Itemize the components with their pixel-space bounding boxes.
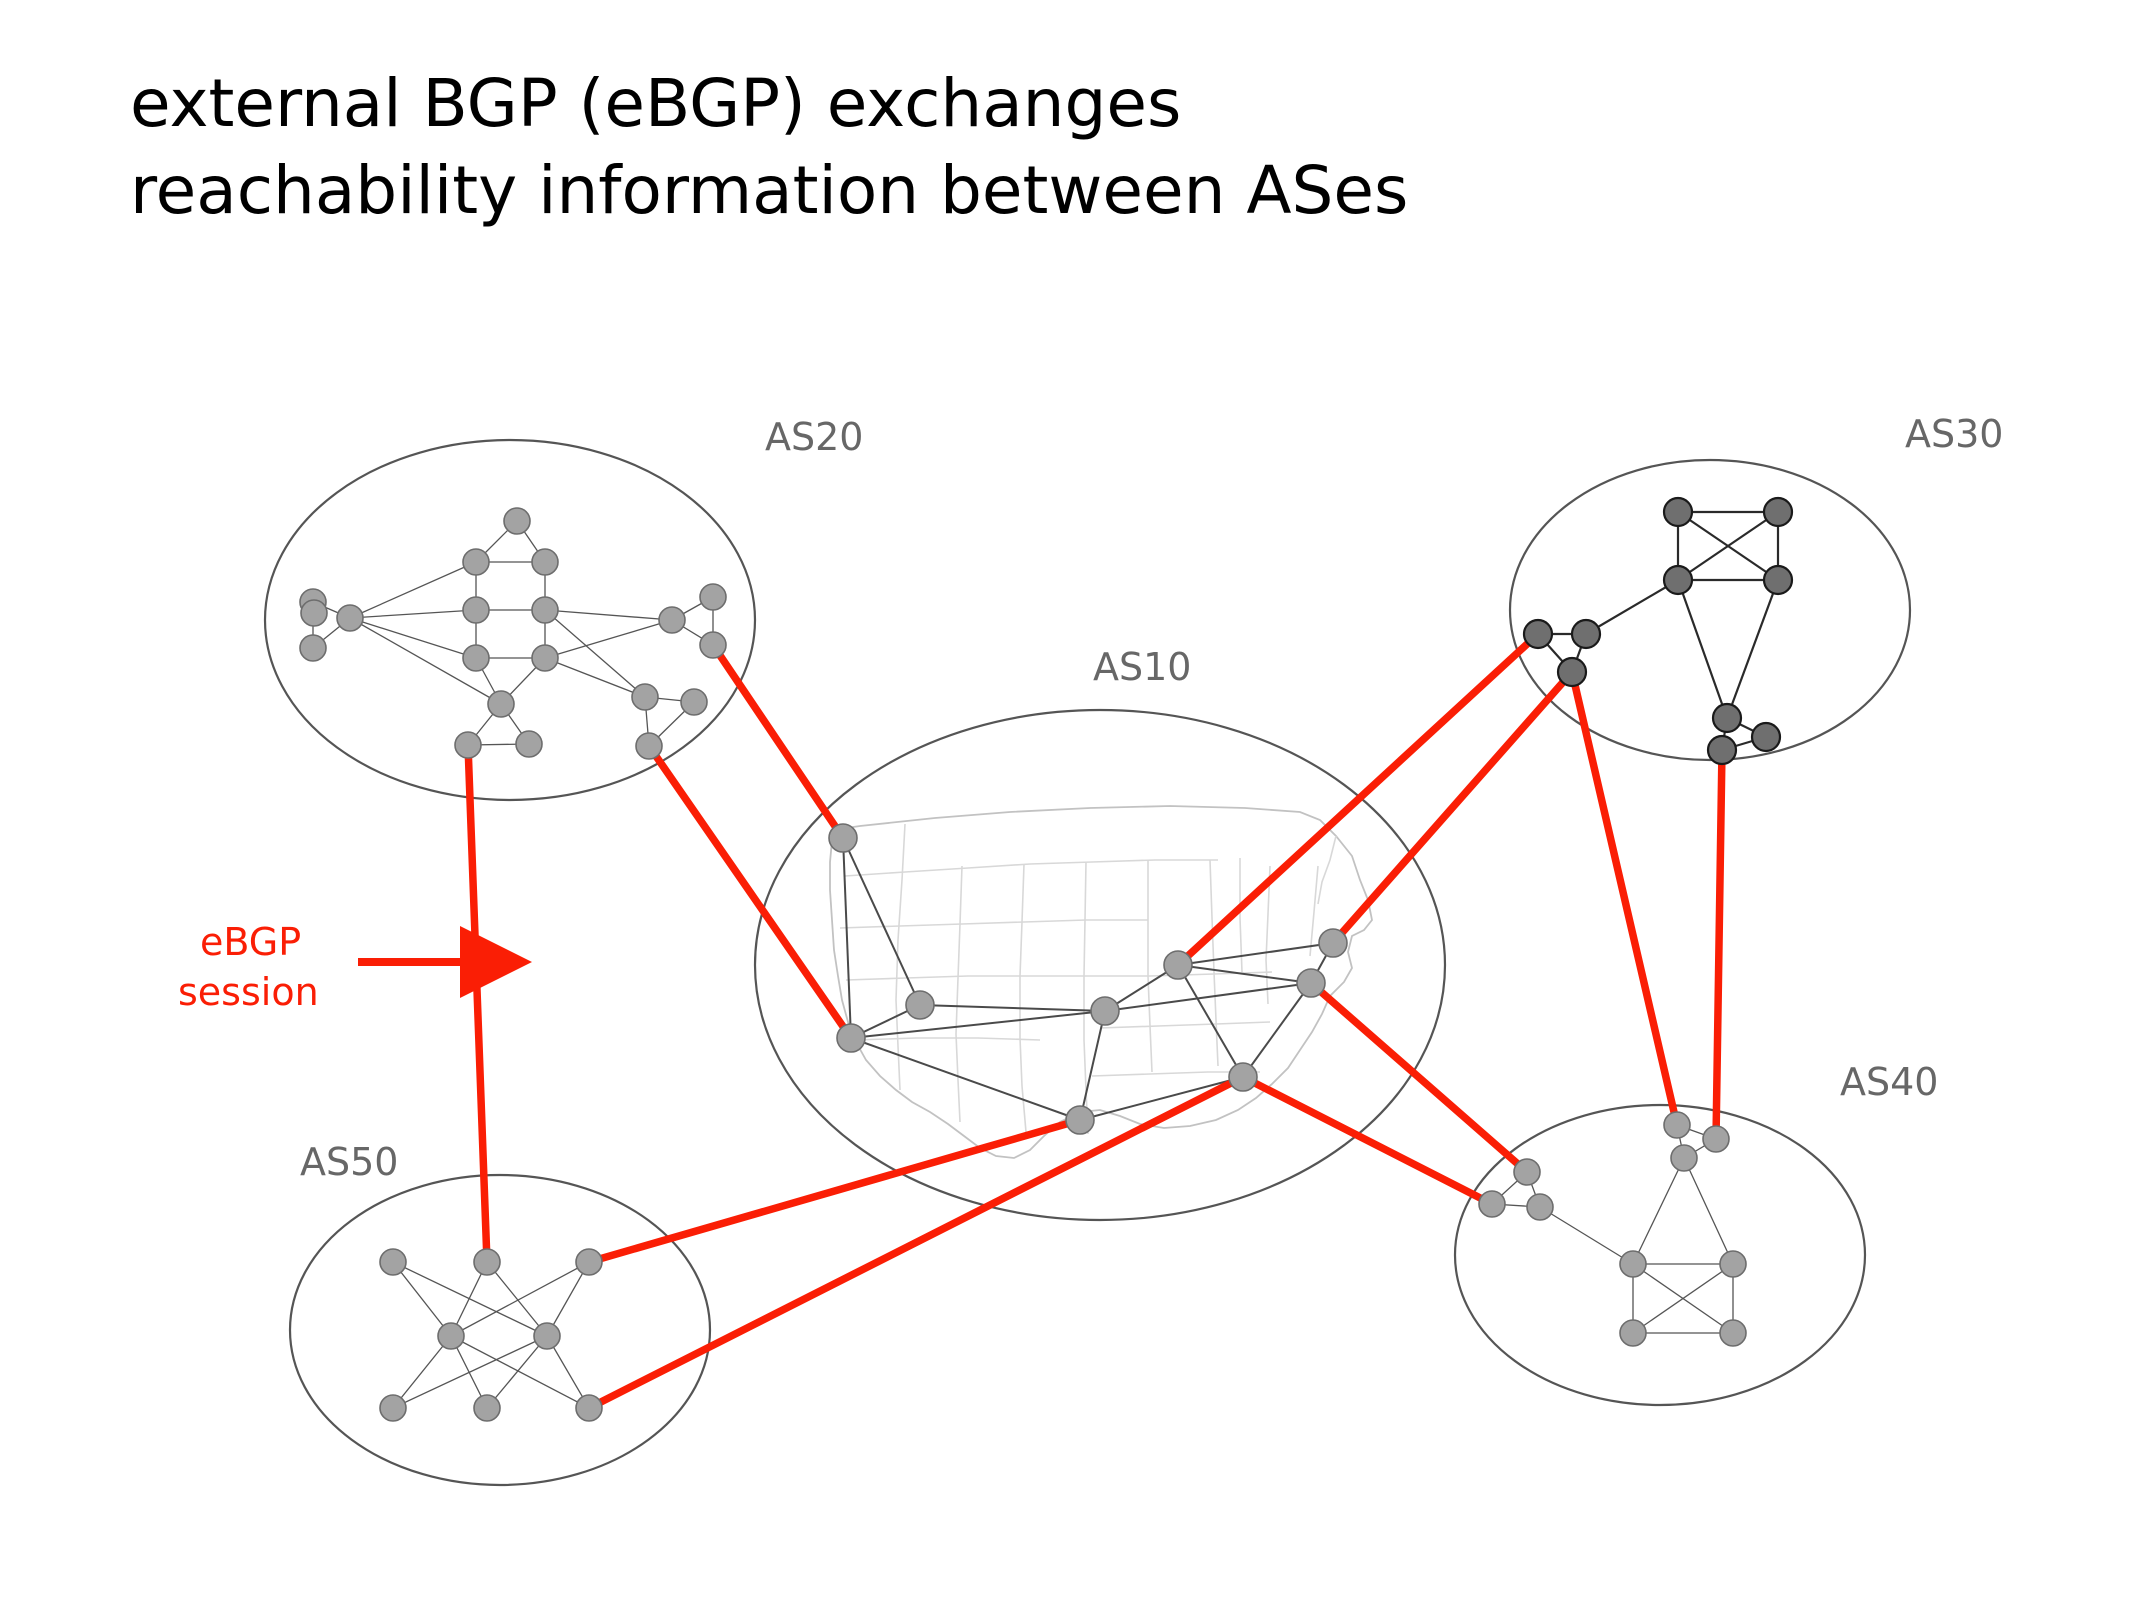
as-boundary-as10 xyxy=(755,710,1445,1220)
router-node[interactable] xyxy=(700,632,726,658)
intra-as-link xyxy=(545,658,645,697)
router-node[interactable] xyxy=(1066,1106,1094,1134)
ebgp-session-line xyxy=(649,746,851,1038)
router-node[interactable] xyxy=(504,508,530,534)
router-node[interactable] xyxy=(455,732,481,758)
intra-as-link xyxy=(920,1005,1105,1011)
intra-as-link xyxy=(350,562,476,618)
intra-as-link xyxy=(1080,1077,1243,1120)
network-diagram: AS20AS10AS30AS40AS50 eBGP session xyxy=(0,0,2134,1600)
ebgp-session-line xyxy=(589,1120,1080,1262)
intra-as-link xyxy=(393,1336,451,1408)
ebgp-session-line xyxy=(1311,983,1527,1172)
intra-as-link xyxy=(545,610,672,620)
router-node[interactable] xyxy=(380,1395,406,1421)
ebgp-session-line xyxy=(1243,1077,1492,1204)
as-boundaries xyxy=(265,440,1910,1485)
router-node[interactable] xyxy=(488,691,514,717)
router-node[interactable] xyxy=(1720,1320,1746,1346)
router-node[interactable] xyxy=(534,1323,560,1349)
router-node[interactable] xyxy=(681,689,707,715)
router-node[interactable] xyxy=(632,684,658,710)
ebgp-session-line xyxy=(1716,750,1722,1139)
router-node[interactable] xyxy=(700,584,726,610)
intra-as-link xyxy=(350,618,476,658)
router-node[interactable] xyxy=(1764,566,1792,594)
as-boundary-as30 xyxy=(1510,460,1910,760)
intra-as-link xyxy=(1243,983,1311,1077)
router-node[interactable] xyxy=(1764,498,1792,526)
intra-as-link xyxy=(393,1336,547,1408)
as-boundary-as40 xyxy=(1455,1105,1865,1405)
intra-as-link xyxy=(393,1262,451,1336)
router-node[interactable] xyxy=(837,1024,865,1052)
router-node[interactable] xyxy=(301,600,327,626)
as-label-as20: AS20 xyxy=(765,415,863,459)
router-node[interactable] xyxy=(1297,969,1325,997)
router-node[interactable] xyxy=(1664,1112,1690,1138)
router-node[interactable] xyxy=(906,991,934,1019)
router-node[interactable] xyxy=(463,645,489,671)
router-node[interactable] xyxy=(1703,1126,1729,1152)
as-label-as40: AS40 xyxy=(1840,1060,1938,1104)
router-node[interactable] xyxy=(1091,997,1119,1025)
ebgp-session-line xyxy=(1572,672,1677,1125)
router-node[interactable] xyxy=(1229,1063,1257,1091)
router-node[interactable] xyxy=(1620,1251,1646,1277)
router-node[interactable] xyxy=(829,824,857,852)
router-node[interactable] xyxy=(380,1249,406,1275)
router-node[interactable] xyxy=(576,1395,602,1421)
intra-as-link xyxy=(393,1262,547,1336)
router-node[interactable] xyxy=(1164,951,1192,979)
router-node[interactable] xyxy=(1664,566,1692,594)
router-node[interactable] xyxy=(532,645,558,671)
ebgp-session-line xyxy=(468,745,487,1262)
router-node[interactable] xyxy=(474,1395,500,1421)
ebgp-annotation-line1: eBGP xyxy=(200,920,301,964)
router-node[interactable] xyxy=(1527,1194,1553,1220)
router-node[interactable] xyxy=(1514,1159,1540,1185)
ebgp-session-line xyxy=(589,1077,1243,1408)
router-node[interactable] xyxy=(1319,929,1347,957)
router-node[interactable] xyxy=(1524,620,1552,648)
router-node[interactable] xyxy=(463,597,489,623)
intra-as-link xyxy=(1540,1207,1633,1264)
router-node[interactable] xyxy=(516,731,542,757)
router-node[interactable] xyxy=(1572,620,1600,648)
intra-as-link xyxy=(487,1336,547,1408)
as-boundary-as50 xyxy=(290,1175,710,1485)
intra-as-link xyxy=(350,610,476,618)
as-label-as10: AS10 xyxy=(1093,645,1191,689)
router-node[interactable] xyxy=(1558,658,1586,686)
intra-as-link xyxy=(1633,1158,1684,1264)
router-node[interactable] xyxy=(1713,704,1741,732)
intra-as-link xyxy=(1727,580,1778,718)
router-node[interactable] xyxy=(438,1323,464,1349)
intra-as-link xyxy=(1178,965,1243,1077)
slide-canvas: external BGP (eBGP) exchanges reachabili… xyxy=(0,0,2134,1600)
router-node[interactable] xyxy=(636,733,662,759)
ebgp-annotation-line2: session xyxy=(178,970,319,1014)
router-node[interactable] xyxy=(532,549,558,575)
intra-as-links xyxy=(313,512,1778,1408)
router-node[interactable] xyxy=(1664,498,1692,526)
router-node[interactable] xyxy=(1720,1251,1746,1277)
as-label-as50: AS50 xyxy=(300,1140,398,1184)
intra-as-link xyxy=(545,620,672,658)
router-node[interactable] xyxy=(1752,723,1780,751)
intra-as-link xyxy=(1586,580,1678,634)
intra-as-link xyxy=(1684,1158,1733,1264)
intra-as-link xyxy=(851,1011,1105,1038)
router-node[interactable] xyxy=(300,635,326,661)
router-node[interactable] xyxy=(659,607,685,633)
intra-as-link xyxy=(487,1262,547,1336)
router-node[interactable] xyxy=(1671,1145,1697,1171)
router-node[interactable] xyxy=(337,605,363,631)
as-label-as30: AS30 xyxy=(1905,412,2003,456)
router-node[interactable] xyxy=(463,549,489,575)
router-node[interactable] xyxy=(1708,736,1736,764)
ebgp-session-line xyxy=(713,645,843,838)
router-node[interactable] xyxy=(1479,1191,1505,1217)
router-node[interactable] xyxy=(474,1249,500,1275)
intra-as-link xyxy=(1105,983,1311,1011)
router-node[interactable] xyxy=(1620,1320,1646,1346)
router-node[interactable] xyxy=(576,1249,602,1275)
router-node[interactable] xyxy=(532,597,558,623)
intra-as-link xyxy=(851,1038,1080,1120)
intra-as-link xyxy=(1678,580,1727,718)
router-nodes xyxy=(300,498,1792,1421)
